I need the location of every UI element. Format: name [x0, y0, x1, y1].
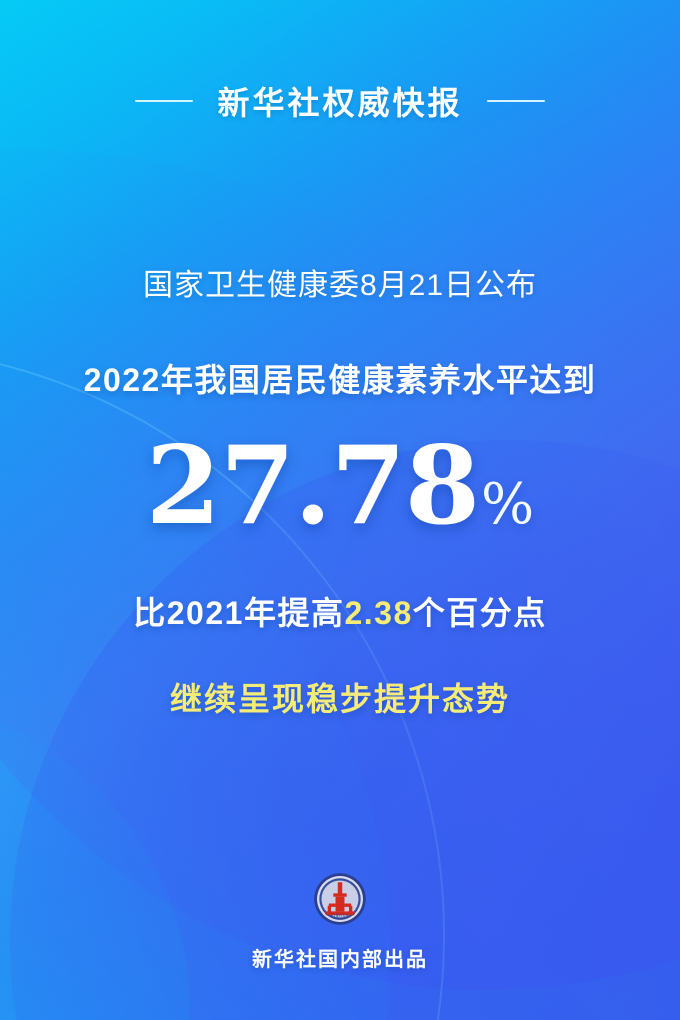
masthead-rule-left	[135, 100, 193, 102]
footer-caption: 新华社国内部出品	[252, 943, 428, 972]
hero-unit: %	[481, 477, 534, 533]
footer: XINHUA 新华社国内部出品	[0, 871, 680, 972]
xinhua-emblem-icon: XINHUA	[312, 871, 368, 927]
svg-text:XINHUA: XINHUA	[331, 913, 350, 918]
delta-suffix: 个百分点	[413, 595, 547, 631]
hero-statistic: 27.78 %	[0, 432, 680, 540]
masthead-rule-right	[487, 100, 545, 102]
masthead-title: 新华社权威快报	[217, 78, 462, 124]
poster-content: 新华社权威快报 国家卫生健康委8月21日公布 2022年我国居民健康素养水平达到…	[0, 0, 680, 1020]
delta-value: 2.38	[344, 595, 412, 631]
infographic-poster: 新华社权威快报 国家卫生健康委8月21日公布 2022年我国居民健康素养水平达到…	[0, 0, 680, 1020]
source-line: 国家卫生健康委8月21日公布	[0, 260, 680, 304]
hero-number: 27.78	[146, 432, 479, 540]
masthead: 新华社权威快报	[0, 78, 680, 124]
lead-line: 2022年我国居民健康素养水平达到	[0, 355, 680, 401]
delta-prefix: 比2021年提高	[133, 595, 344, 631]
trend-line: 继续呈现稳步提升态势	[0, 674, 680, 720]
delta-line: 比2021年提高2.38个百分点	[0, 588, 680, 634]
